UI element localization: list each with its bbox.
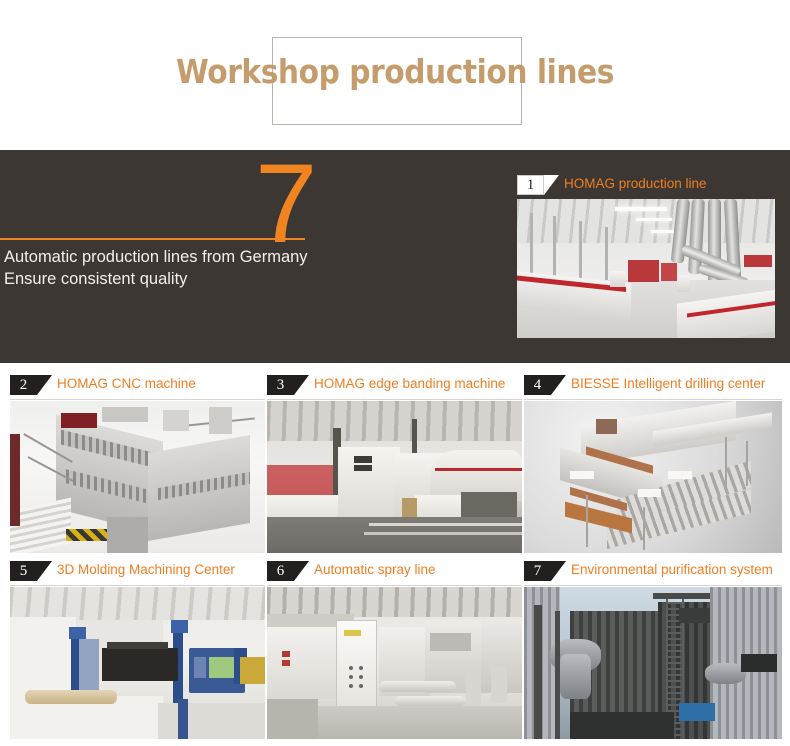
- grid-card-3[interactable]: 3 HOMAG edge banding machine: [267, 375, 522, 560]
- card-photo: [10, 587, 265, 739]
- card-number-chip: 5: [10, 561, 52, 581]
- grid-card-2[interactable]: 2 HOMAG CNC machine: [10, 375, 265, 560]
- card-label-rule: [524, 399, 782, 400]
- card-label: HOMAG CNC machine: [57, 376, 196, 391]
- card-label-rule: [267, 585, 522, 586]
- card-number-chip: 3: [267, 375, 309, 395]
- grid-card-5[interactable]: 5 3D Molding Machining Center: [10, 561, 265, 746]
- card-number: 5: [10, 561, 37, 581]
- card-label-bar: 5 3D Molding Machining Center: [10, 561, 265, 583]
- card-label-rule: [267, 399, 522, 400]
- card-label: Automatic spray line: [314, 562, 436, 577]
- featured-photo: [517, 199, 775, 338]
- chip-tail-shape: [294, 561, 309, 581]
- card-label: HOMAG edge banding machine: [314, 376, 505, 391]
- production-line-grid: 2 HOMAG CNC machine: [0, 375, 790, 746]
- grid-row-1: 2 HOMAG CNC machine: [0, 375, 790, 560]
- card-label-rule: [10, 585, 265, 586]
- card-photo: [267, 587, 522, 739]
- card-label-bar: 3 HOMAG edge banding machine: [267, 375, 522, 397]
- card-label: 3D Molding Machining Center: [57, 562, 235, 577]
- grid-card-7[interactable]: 7 Environmental purification system: [524, 561, 782, 746]
- chip-tail-shape: [294, 375, 309, 395]
- card-number: 2: [10, 375, 37, 395]
- card-label-bar: 6 Automatic spray line: [267, 561, 522, 583]
- hero-count-number: 7: [255, 148, 315, 260]
- hero-divider: [0, 238, 305, 240]
- featured-label: HOMAG production line: [564, 176, 707, 191]
- card-photo: [10, 401, 265, 553]
- card-number: 6: [267, 561, 294, 581]
- card-label-rule: [10, 399, 265, 400]
- hero-text-block: 7 Automatic production lines from German…: [0, 150, 470, 363]
- card-label-bar: 7 Environmental purification system: [524, 561, 782, 583]
- page-header: Workshop production lines: [0, 0, 790, 150]
- card-number: 7: [524, 561, 551, 581]
- featured-number-chip: 1: [517, 175, 559, 195]
- grid-card-4[interactable]: 4 BIESSE Intelligent drilling center: [524, 375, 782, 560]
- chip-tail-shape: [37, 375, 52, 395]
- hero-banner: 7 Automatic production lines from German…: [0, 150, 790, 363]
- card-photo: [267, 401, 522, 553]
- featured-card[interactable]: 1 HOMAG production line: [517, 175, 775, 338]
- hero-caption-line-2: Ensure consistent quality: [4, 268, 464, 290]
- page-title: Workshop production lines: [40, 52, 751, 91]
- card-number-chip: 7: [524, 561, 566, 581]
- chip-tail-shape: [544, 175, 559, 195]
- featured-label-bar: 1 HOMAG production line: [517, 175, 775, 197]
- chip-tail-shape: [37, 561, 52, 581]
- card-photo: [524, 401, 782, 553]
- card-number-chip: 4: [524, 375, 566, 395]
- card-number: 4: [524, 375, 551, 395]
- card-number: 3: [267, 375, 294, 395]
- featured-number: 1: [517, 175, 544, 195]
- card-label-bar: 4 BIESSE Intelligent drilling center: [524, 375, 782, 397]
- hero-caption-line-1: Automatic production lines from Germany: [4, 246, 464, 268]
- card-label: BIESSE Intelligent drilling center: [571, 376, 765, 391]
- card-number-chip: 6: [267, 561, 309, 581]
- card-number-chip: 2: [10, 375, 52, 395]
- card-label-bar: 2 HOMAG CNC machine: [10, 375, 265, 397]
- chip-tail-shape: [551, 375, 566, 395]
- grid-card-6[interactable]: 6 Automatic spray line: [267, 561, 522, 746]
- chip-tail-shape: [551, 561, 566, 581]
- grid-row-2: 5 3D Molding Machining Center: [0, 561, 790, 746]
- card-label: Environmental purification system: [571, 562, 773, 577]
- card-photo: [524, 587, 782, 739]
- card-label-rule: [524, 585, 782, 586]
- hero-caption: Automatic production lines from Germany …: [4, 246, 464, 291]
